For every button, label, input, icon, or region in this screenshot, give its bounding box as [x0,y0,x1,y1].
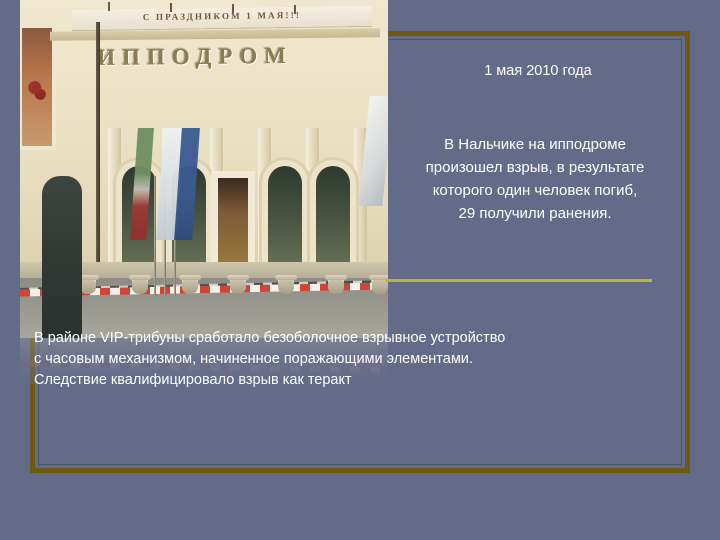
banner-hook [294,5,296,14]
detail-line: с часовым механизмом, начиненное поражаю… [34,349,698,370]
poster-artwork [26,74,48,108]
event-date: 1 мая 2010 года [400,62,676,80]
lead-paragraph: В Нальчике на ипподроме произошел взрыв,… [382,133,688,225]
lead-line: которого один человек погиб, [382,179,688,202]
hippodrome-photo: С ПРАЗДНИКОМ 1 МАЯ!!! ИППОДРОМ [20,0,388,338]
drainpipe [96,22,100,280]
detail-line: Следствие квалифицировало взрыв как тера… [34,370,698,391]
banner-hook [232,4,234,13]
lead-line: произошел взрыв, в результате [382,156,688,179]
wall-poster [22,28,52,146]
banner-hook [170,3,172,12]
presentation-slide: С ПРАЗДНИКОМ 1 МАЯ!!! ИППОДРОМ [0,0,720,540]
building-sign-text: ИППОДРОМ [60,43,330,72]
stone-urn [80,278,96,294]
holiday-banner-text: С ПРАЗДНИКОМ 1 МАЯ!!! [72,9,372,23]
detail-line: В районе VIP-трибуны сработало безоболоч… [34,328,698,349]
banner-hook [108,2,110,11]
pedestrian-figure [42,176,82,338]
gold-divider-line [386,279,652,282]
stone-urn [182,278,198,294]
stone-urn [230,278,246,294]
lead-line: В Нальчике на ипподроме [382,133,688,156]
facade-arch [316,166,350,274]
stone-urn [132,278,148,294]
photo-image: С ПРАЗДНИКОМ 1 МАЯ!!! ИППОДРОМ [20,0,388,338]
facade-pilaster [108,128,121,278]
holiday-banner: С ПРАЗДНИКОМ 1 МАЯ!!! [72,6,372,30]
lead-line: 29 получили ранения. [382,202,688,225]
building-entrance-door [218,178,248,274]
stone-urn [278,278,294,294]
detail-paragraph: В районе VIP-трибуны сработало безоболоч… [34,328,698,391]
stone-urn [328,278,344,294]
facade-arch [268,166,302,274]
